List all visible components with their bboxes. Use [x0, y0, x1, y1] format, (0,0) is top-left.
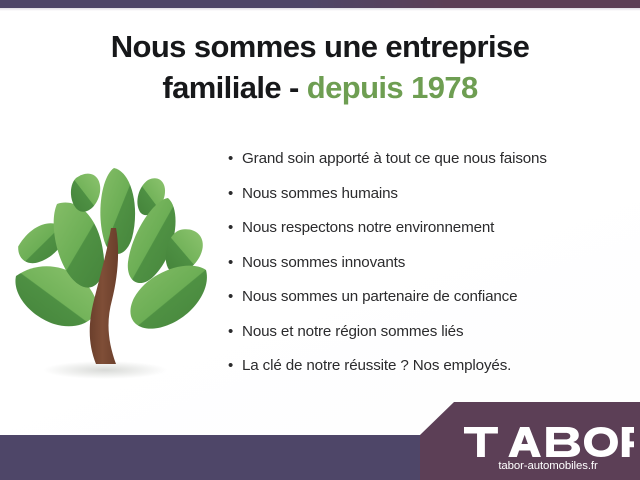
list-item-label: Nous sommes un partenaire de confiance: [242, 288, 628, 305]
top-accent-bar-shadow: [0, 8, 640, 11]
tabor-wordmark-icon: [464, 427, 632, 457]
bullet-icon: •: [228, 220, 242, 235]
list-item-label: Nous et notre région sommes liés: [242, 323, 628, 340]
top-accent-bar: [0, 0, 640, 8]
slide-canvas: Nous sommes une entreprise familiale - d…: [0, 0, 640, 480]
bullet-icon: •: [228, 151, 242, 166]
list-item: • La clé de notre réussite ? Nos employé…: [228, 357, 628, 392]
list-item-label: Nous sommes innovants: [242, 254, 628, 271]
footer-bar-left: [0, 435, 470, 480]
page-title-line-2: familiale - depuis 1978: [0, 67, 640, 108]
leaf-4: [71, 174, 100, 212]
list-item: • Grand soin apporté à tout ce que nous …: [228, 150, 628, 185]
list-item: • Nous sommes un partenaire de confiance: [228, 288, 628, 323]
bullet-icon: •: [228, 289, 242, 304]
list-item: • Nous respectons notre environnement: [228, 219, 628, 254]
brand-logo[interactable]: tabor-automobiles.fr: [464, 427, 632, 472]
list-item-label: La clé de notre réussite ? Nos employés.: [242, 357, 628, 374]
bullet-icon: •: [228, 358, 242, 373]
list-item-label: Grand soin apporté à tout ce que nous fa…: [242, 150, 628, 167]
list-item: • Nous et notre région sommes liés: [228, 323, 628, 358]
list-item-label: Nous respectons notre environnement: [242, 219, 628, 236]
bullet-icon: •: [228, 324, 242, 339]
bullet-icon: •: [228, 186, 242, 201]
page-title-accent: depuis 1978: [307, 70, 478, 105]
leaf-5: [100, 168, 135, 254]
list-item: • Nous sommes innovants: [228, 254, 628, 289]
tree-illustration: [8, 148, 218, 388]
list-item-label: Nous sommes humains: [242, 185, 628, 202]
page-title-line-1: Nous sommes une entreprise: [0, 26, 640, 67]
page-title: Nous sommes une entreprise familiale - d…: [0, 26, 640, 108]
list-item: • Nous sommes humains: [228, 185, 628, 220]
page-title-line-2-black: familiale -: [162, 70, 298, 105]
bullet-icon: •: [228, 255, 242, 270]
brand-website: tabor-automobiles.fr: [464, 460, 632, 472]
benefits-list: • Grand soin apporté à tout ce que nous …: [228, 150, 628, 392]
